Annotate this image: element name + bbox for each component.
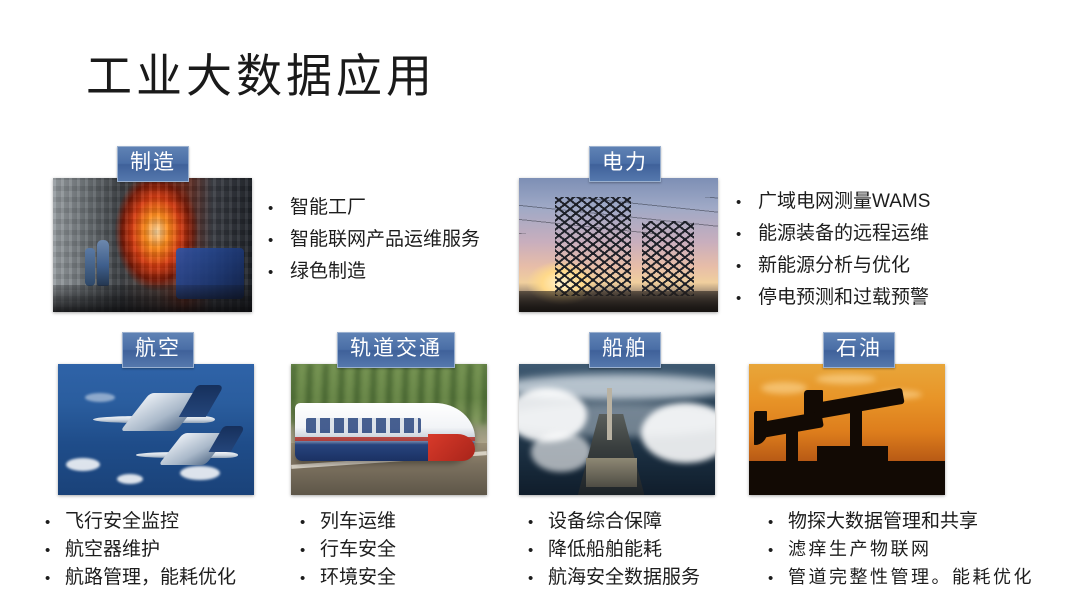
list-item-label: 列车运维: [320, 508, 396, 535]
bullet-dot-icon: •: [300, 565, 320, 592]
bullet-dot-icon: •: [528, 509, 548, 536]
bullet-dot-icon: •: [768, 565, 788, 592]
bullet-dot-icon: •: [45, 565, 65, 592]
list-item-label: 飞行安全监控: [65, 508, 179, 535]
bullet-dot-icon: •: [736, 187, 758, 218]
list-item: •飞行安全监控: [45, 508, 236, 536]
bullet-dot-icon: •: [268, 257, 290, 288]
list-item: •物探大数据管理和共享: [768, 508, 1034, 536]
slide-canvas: 工业大数据应用 制造 •智能工厂 •智能联网产品运维服务 •绿色制造 电力: [0, 0, 1080, 608]
list-item: •设备综合保障: [528, 508, 700, 536]
list-item-label: 新能源分析与优化: [758, 250, 910, 281]
bullet-list-rail-transit: •列车运维 •行车安全 •环境安全: [300, 508, 396, 592]
bullet-dot-icon: •: [268, 193, 290, 224]
list-item: •滤痒生产物联网: [768, 536, 1034, 564]
airplanes-over-ocean-photo: [58, 364, 254, 495]
list-item-label: 管道完整性管理。能耗优化: [788, 564, 1034, 591]
bullet-dot-icon: •: [736, 283, 758, 314]
bullet-dot-icon: •: [768, 509, 788, 536]
badge-aviation: 航空: [122, 332, 194, 368]
list-item: •行车安全: [300, 536, 396, 564]
list-item-label: 智能工厂: [290, 192, 366, 223]
list-item-label: 滤痒生产物联网: [788, 536, 932, 563]
bullet-dot-icon: •: [736, 251, 758, 282]
badge-rail-transit: 轨道交通: [337, 332, 455, 368]
list-item-label: 降低船舶能耗: [548, 536, 662, 563]
badge-manufacturing: 制造: [117, 146, 189, 182]
oil-pumpjacks-sunset-photo: [749, 364, 945, 495]
power-transmission-towers-photo: [519, 178, 718, 312]
list-item-label: 广域电网测量WAMS: [758, 186, 930, 217]
bullet-dot-icon: •: [45, 537, 65, 564]
list-item: •新能源分析与优化: [736, 250, 930, 282]
list-item-label: 绿色制造: [290, 256, 366, 287]
bullet-list-manufacturing: •智能工厂 •智能联网产品运维服务 •绿色制造: [268, 192, 480, 288]
list-item: •智能工厂: [268, 192, 480, 224]
bullet-dot-icon: •: [528, 537, 548, 564]
list-item-label: 航空器维护: [65, 536, 160, 563]
list-item-label: 物探大数据管理和共享: [788, 508, 978, 535]
list-item-label: 设备综合保障: [548, 508, 662, 535]
list-item-label: 能源装备的远程运维: [758, 218, 929, 249]
list-item: •航海安全数据服务: [528, 564, 700, 592]
bullet-dot-icon: •: [768, 537, 788, 564]
list-item: •降低船舶能耗: [528, 536, 700, 564]
list-item-label: 停电预测和过载预警: [758, 282, 929, 313]
list-item: •停电预测和过载预警: [736, 282, 930, 314]
list-item: •绿色制造: [268, 256, 480, 288]
list-item: •管道完整性管理。能耗优化: [768, 564, 1034, 592]
bullet-list-aviation: •飞行安全监控 •航空器维护 •航路管理，能耗优化: [45, 508, 236, 592]
list-item: •广域电网测量WAMS: [736, 186, 930, 218]
badge-petroleum: 石油: [823, 332, 895, 368]
list-item: •能源装备的远程运维: [736, 218, 930, 250]
bullet-dot-icon: •: [45, 509, 65, 536]
bullet-list-ship: •设备综合保障 •降低船舶能耗 •航海安全数据服务: [528, 508, 700, 592]
list-item-label: 航海安全数据服务: [548, 564, 700, 591]
bullet-list-petroleum: •物探大数据管理和共享 •滤痒生产物联网 •管道完整性管理。能耗优化: [768, 508, 1034, 592]
list-item-label: 航路管理，能耗优化: [65, 564, 236, 591]
bullet-dot-icon: •: [268, 225, 290, 256]
high-speed-train-photo: [291, 364, 487, 495]
bullet-dot-icon: •: [300, 537, 320, 564]
bullet-dot-icon: •: [736, 219, 758, 250]
badge-ship: 船舶: [589, 332, 661, 368]
factory-molten-metal-photo: [53, 178, 252, 312]
list-item: •环境安全: [300, 564, 396, 592]
list-item: •航空器维护: [45, 536, 236, 564]
bullet-list-power: •广域电网测量WAMS •能源装备的远程运维 •新能源分析与优化 •停电预测和过…: [736, 186, 930, 314]
ship-in-rough-sea-photo: [519, 364, 715, 495]
bullet-dot-icon: •: [528, 565, 548, 592]
badge-power: 电力: [589, 146, 661, 182]
list-item: •航路管理，能耗优化: [45, 564, 236, 592]
bullet-dot-icon: •: [300, 509, 320, 536]
list-item: •智能联网产品运维服务: [268, 224, 480, 256]
list-item: •列车运维: [300, 508, 396, 536]
list-item-label: 智能联网产品运维服务: [290, 224, 480, 255]
list-item-label: 行车安全: [320, 536, 396, 563]
page-title: 工业大数据应用: [86, 48, 436, 104]
list-item-label: 环境安全: [320, 564, 396, 591]
